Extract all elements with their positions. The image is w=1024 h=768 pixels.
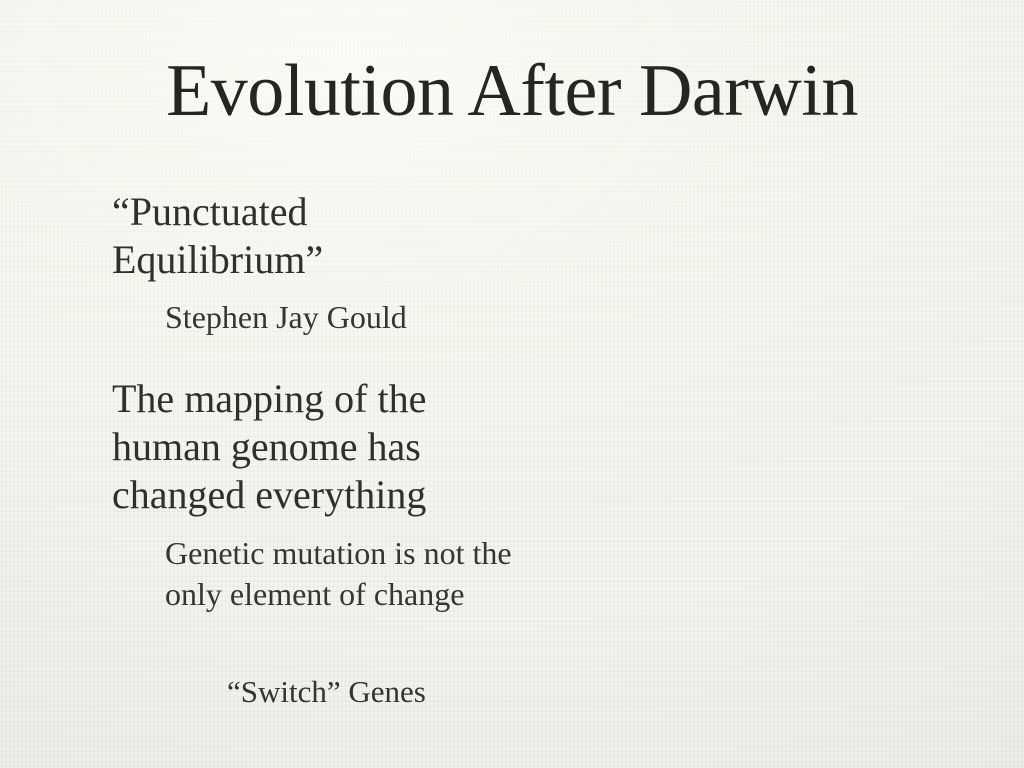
four-diamond-bullet-icon [117, 297, 165, 308]
bullet-label: The mapping of the human genome has chan… [112, 375, 462, 519]
presentation-slide: Evolution After Darwin “Punctuated Equil… [0, 0, 1024, 768]
bullet-item-stephen-jay-gould: Stephen Jay Gould [117, 297, 525, 338]
four-diamond-bullet-icon [62, 188, 112, 201]
bullet-label: Genetic mutation is not the only element… [165, 533, 525, 615]
bullet-label: “Switch” Genes [227, 672, 557, 712]
four-diamond-bullet-icon [169, 672, 227, 682]
bullet-item-human-genome-mapping: The mapping of the human genome has chan… [62, 375, 462, 519]
four-diamond-bullet-icon [62, 375, 112, 388]
slide-content: Evolution After Darwin “Punctuated Equil… [0, 0, 1024, 768]
bullet-item-punctuated-equilibrium: “Punctuated Equilibrium” [62, 188, 462, 284]
bullet-label: “Punctuated Equilibrium” [112, 188, 462, 284]
bullet-item-genetic-mutation: Genetic mutation is not the only element… [117, 533, 525, 615]
four-diamond-bullet-icon [117, 533, 165, 544]
bullet-item-switch-genes: “Switch” Genes [169, 672, 557, 712]
slide-title: Evolution After Darwin [0, 54, 1024, 128]
bullet-label: Stephen Jay Gould [165, 297, 525, 338]
